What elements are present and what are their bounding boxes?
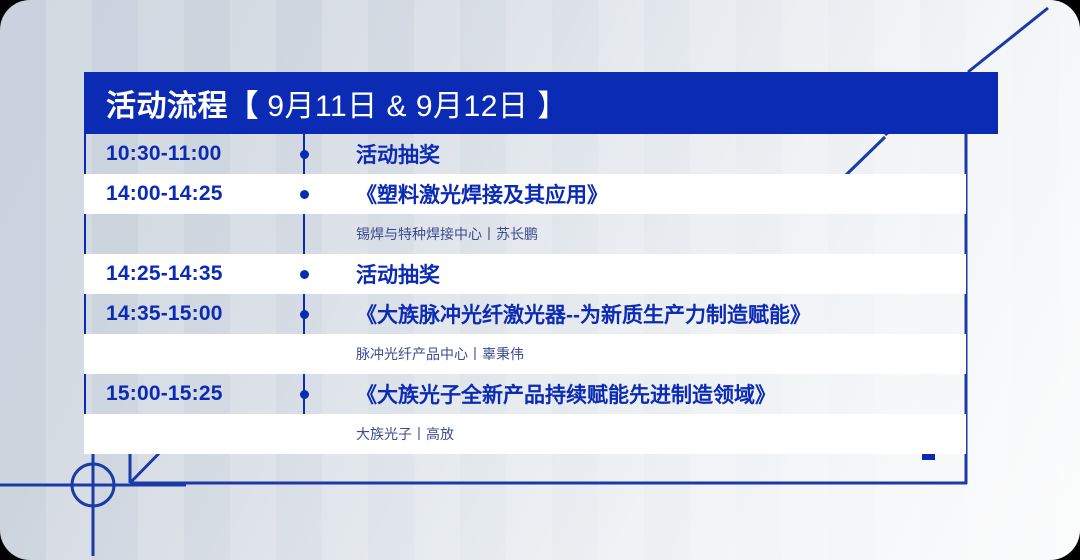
timeline-dot-icon	[300, 150, 309, 159]
session-title: 《大族脉冲光纤激光器--为新质生产力制造赋能》	[312, 299, 811, 329]
speaker-label: 脉冲光纤产品中心丨辜秉伟	[312, 344, 524, 364]
session-title: 活动抽奖	[312, 259, 440, 289]
session-time: 14:00-14:25	[84, 182, 296, 206]
timeline-dot-icon	[300, 270, 309, 279]
session-row: 14:00-14:25《塑料激光焊接及其应用》	[84, 174, 966, 214]
timeline-dot-cell	[296, 310, 312, 319]
session-row: 14:25-14:35活动抽奖	[84, 254, 966, 294]
timeline-dot-cell	[296, 390, 312, 399]
speaker-row: 脉冲光纤产品中心丨辜秉伟	[84, 334, 966, 374]
title-close-text: 】	[537, 90, 568, 123]
session-row: 15:00-15:25《大族光子全新产品持续赋能先进制造领域》	[84, 374, 966, 414]
session-row: 14:35-15:00《大族脉冲光纤激光器--为新质生产力制造赋能》	[84, 294, 966, 334]
session-time: 14:35-15:00	[84, 302, 296, 326]
timeline-dot-cell	[296, 190, 312, 199]
timeline-dot-cell	[296, 150, 312, 159]
timeline-dot-icon	[300, 310, 309, 319]
diagonal-line-top	[968, 8, 1048, 72]
timeline-dot-icon	[300, 190, 309, 199]
speaker-row: 大族光子丨高放	[84, 414, 966, 454]
session-time: 15:00-15:25	[84, 382, 296, 406]
timeline-dot-cell	[296, 270, 312, 279]
speaker-row: 锡焊与特种焊接中心丨苏长鹏	[84, 214, 966, 254]
session-time: 10:30-11:00	[84, 142, 296, 166]
title-dates-text: 9月11日 & 9月12日	[259, 90, 538, 123]
schedule-rows: 10:30-11:00活动抽奖14:00-14:25《塑料激光焊接及其应用》锡焊…	[84, 134, 966, 454]
session-title: 活动抽奖	[312, 139, 440, 169]
session-title: 《塑料激光焊接及其应用》	[312, 179, 608, 209]
speaker-label: 大族光子丨高放	[312, 424, 454, 444]
poster-canvas: 活动流程【 9月11日 & 9月12日 】 10:30-11:00活动抽奖14:…	[0, 0, 1080, 560]
schedule-panel: 活动流程【 9月11日 & 9月12日 】 10:30-11:00活动抽奖14:…	[84, 72, 998, 454]
timeline-dot-icon	[300, 390, 309, 399]
session-title: 《大族光子全新产品持续赋能先进制造领域》	[312, 379, 776, 409]
page-title: 活动流程【 9月11日 & 9月12日 】	[106, 81, 568, 125]
title-main-text: 活动流程【	[106, 90, 259, 123]
session-time: 14:25-14:35	[84, 262, 296, 286]
speaker-label: 锡焊与特种焊接中心丨苏长鹏	[312, 224, 538, 244]
session-row: 10:30-11:00活动抽奖	[84, 134, 966, 174]
schedule-header-bar: 活动流程【 9月11日 & 9月12日 】	[84, 72, 998, 134]
